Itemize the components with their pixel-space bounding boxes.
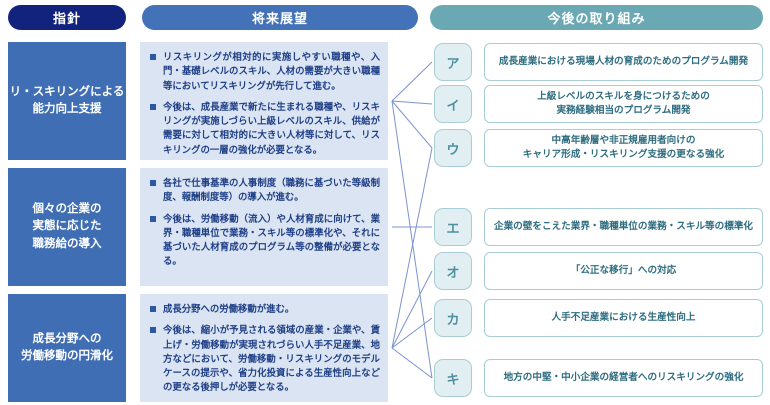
action-chip-e-label: エ: [446, 218, 459, 237]
action-box-e-text: 企業の壁をこえた業界・職種単位の業務・スキル等の標準化: [494, 220, 753, 234]
outlook-bullet: 成長分野への労働移動が進む。: [146, 302, 380, 316]
guideline-1-line2: 能力向上支援: [33, 103, 102, 115]
action-box-u-text: 中高年齢層や非正規雇用者向けの キャリア形成・リスキリング支援の更なる強化: [523, 134, 724, 162]
square-bullet-icon: [150, 104, 156, 110]
square-bullet-icon: [150, 306, 156, 312]
guideline-box-2-label: 個々の企業の 実態に応じた 職務給の導入: [33, 201, 102, 253]
square-bullet-icon: [150, 54, 156, 60]
action-chip-e[interactable]: エ: [434, 208, 472, 246]
guideline-box-3: 成長分野への 労働移動の円滑化: [8, 294, 126, 402]
outlook-bullet-text: 今後は、成長産業で新たに生まれる職種や、リスキリングが実施しづらい上級レベルのス…: [163, 100, 380, 157]
guideline-2-line1: 個々の企業の: [33, 203, 102, 215]
header-pill-guideline: 指針: [8, 5, 126, 30]
action-box-ka[interactable]: 人手不足産業における生産性向上: [484, 299, 763, 337]
outlook-bullet: リスキリングが相対的に実施しやすい職種や、入門・基礎レベルのスキル、人材の需要が…: [146, 50, 380, 93]
action-box-i-text: 上級レベルのスキルを身につけるための 実務経験相当のプログラム開発: [537, 90, 710, 118]
action-box-a[interactable]: 成長産業における現場人材の育成のためのプログラム開発: [484, 43, 763, 81]
header-pill-actions: 今後の取り組み: [430, 5, 763, 30]
action-chip-a[interactable]: ア: [434, 43, 472, 81]
outlook-bullet-text: 今後は、縮小が予見される領域の産業・企業や、賃上げ・労働移動が実現されづらい人手…: [163, 323, 380, 394]
outlook-bullet-text: リスキリングが相対的に実施しやすい職種や、入門・基礎レベルのスキル、人材の需要が…: [163, 50, 380, 93]
action-e-line1: 企業の壁をこえた業界・職種単位の業務・スキル等の標準化: [494, 221, 753, 232]
guideline-2-line2: 実態に応じた: [33, 220, 102, 232]
action-chip-u[interactable]: ウ: [434, 129, 472, 167]
outlook-bullet-text: 各社で仕事基準の人事制度（職務に基づいた等級制度、報酬制度等）の導入が進む。: [163, 176, 380, 205]
outlook-box-1: リスキリングが相対的に実施しやすい職種や、入門・基礎レベルのスキル、人材の需要が…: [140, 42, 388, 160]
guideline-3-line1: 成長分野への: [33, 333, 102, 345]
outlook-bullet-text: 成長分野への労働移動が進む。: [163, 302, 380, 316]
guideline-box-3-label: 成長分野への 労働移動の円滑化: [21, 331, 113, 366]
action-chip-a-label: ア: [446, 53, 459, 72]
guideline-1-line1: リ・スキリングによる: [10, 86, 125, 98]
header-pill-outlook: 将来展望: [142, 5, 418, 30]
action-box-e[interactable]: 企業の壁をこえた業界・職種単位の業務・スキル等の標準化: [484, 208, 763, 246]
action-i-line1: 上級レベルのスキルを身につけるための: [537, 91, 710, 102]
action-chip-i-label: イ: [446, 95, 459, 114]
header-pill-guideline-label: 指針: [53, 8, 81, 27]
action-chip-o[interactable]: オ: [434, 252, 472, 290]
outlook-box-2: 各社で仕事基準の人事制度（職務に基づいた等級制度、報酬制度等）の導入が進む。 今…: [140, 168, 388, 286]
outlook-box-3: 成長分野への労働移動が進む。 今後は、縮小が予見される領域の産業・企業や、賃上げ…: [140, 294, 388, 402]
outlook-bullet: 今後は、縮小が予見される領域の産業・企業や、賃上げ・労働移動が実現されづらい人手…: [146, 323, 380, 394]
outlook-bullet: 今後は、労働移動（流入）や人材育成に向けて、業界・職種単位で業務・スキル等の標準…: [146, 212, 380, 269]
guideline-3-line2: 労働移動の円滑化: [21, 350, 113, 362]
action-box-a-text: 成長産業における現場人材の育成のためのプログラム開発: [499, 55, 748, 69]
guideline-box-1: リ・スキリングによる 能力向上支援: [8, 42, 126, 160]
action-u-line2: キャリア形成・リスキリング支援の更なる強化: [523, 149, 724, 160]
action-box-o[interactable]: 「公正な移行」への対応: [484, 252, 763, 290]
action-chip-i[interactable]: イ: [434, 85, 472, 123]
action-chip-o-label: オ: [446, 262, 459, 281]
header-pill-outlook-label: 将来展望: [252, 8, 308, 27]
action-chip-ki[interactable]: キ: [434, 359, 472, 397]
guideline-box-2: 個々の企業の 実態に応じた 職務給の導入: [8, 168, 126, 286]
action-chip-ka-label: カ: [446, 309, 459, 328]
action-o-line1: 「公正な移行」への対応: [571, 265, 677, 276]
action-a-line1: 成長産業における現場人材の育成のためのプログラム開発: [499, 56, 748, 67]
action-box-ki-text: 地方の中堅・中小企業の経営者へのリスキリングの強化: [504, 371, 744, 385]
diagram-canvas: 指針 将来展望 今後の取り組み リ・スキリングによる 能力向上支援: [0, 0, 770, 405]
action-box-i[interactable]: 上級レベルのスキルを身につけるための 実務経験相当のプログラム開発: [484, 85, 763, 123]
square-bullet-icon: [150, 180, 156, 186]
action-box-o-text: 「公正な移行」への対応: [571, 264, 677, 278]
action-box-ka-text: 人手不足産業における生産性向上: [552, 311, 696, 325]
action-ka-line1: 人手不足産業における生産性向上: [552, 312, 696, 323]
action-ki-line1: 地方の中堅・中小企業の経営者へのリスキリングの強化: [504, 372, 744, 383]
guideline-box-1-label: リ・スキリングによる 能力向上支援: [10, 84, 125, 119]
square-bullet-icon: [150, 216, 156, 222]
outlook-bullet-text: 今後は、労働移動（流入）や人材育成に向けて、業界・職種単位で業務・スキル等の標準…: [163, 212, 380, 269]
action-box-ki[interactable]: 地方の中堅・中小企業の経営者へのリスキリングの強化: [484, 359, 763, 397]
action-i-line2: 実務経験相当のプログラム開発: [556, 105, 690, 116]
action-u-line1: 中高年齢層や非正規雇用者向けの: [552, 135, 696, 146]
outlook-bullet: 各社で仕事基準の人事制度（職務に基づいた等級制度、報酬制度等）の導入が進む。: [146, 176, 380, 205]
action-chip-ki-label: キ: [446, 369, 459, 388]
action-chip-u-label: ウ: [446, 139, 459, 158]
action-chip-ka[interactable]: カ: [434, 299, 472, 337]
outlook-bullet: 今後は、成長産業で新たに生まれる職種や、リスキリングが実施しづらい上級レベルのス…: [146, 100, 380, 157]
header-pill-actions-label: 今後の取り組み: [547, 8, 645, 27]
square-bullet-icon: [150, 327, 156, 333]
action-box-u[interactable]: 中高年齢層や非正規雇用者向けの キャリア形成・リスキリング支援の更なる強化: [484, 129, 763, 167]
guideline-2-line3: 職務給の導入: [33, 238, 102, 250]
